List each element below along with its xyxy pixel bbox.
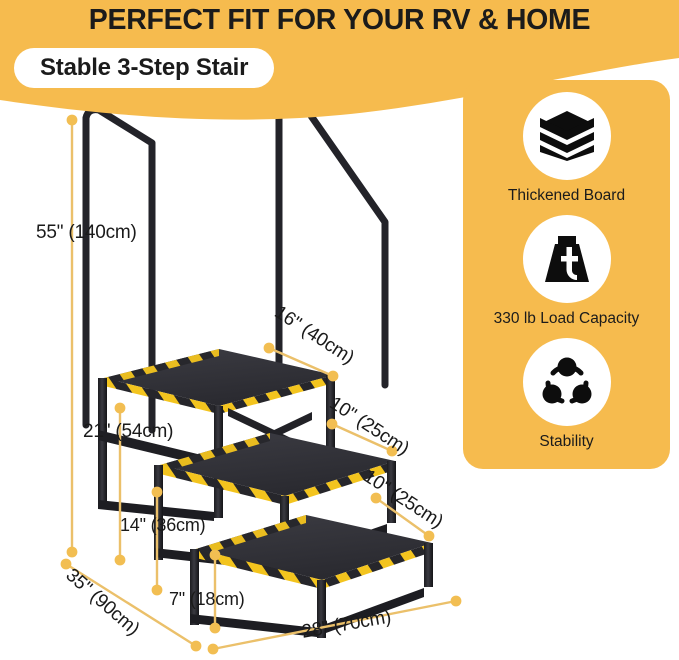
subtitle-pill-label: Stable 3-Step Stair <box>40 54 248 82</box>
feature-label: Thickened Board <box>508 187 625 205</box>
dimension-label-low-step-height: 7" (18cm) <box>169 589 245 610</box>
layers-stack-icon <box>538 109 596 163</box>
dimension-label-handrail-height: 55" (140cm) <box>36 222 137 244</box>
dimension-label-top-step-height: 21" (54cm) <box>83 421 173 443</box>
feature-item-load-capacity: 330 lb Load Capacity <box>463 215 670 328</box>
feature-badge <box>523 338 611 426</box>
subtitle-pill: Stable 3-Step Stair <box>14 48 274 88</box>
stability-triangle-icon <box>539 354 595 410</box>
feature-panel: Thickened Board 330 lb Load Capacity <box>463 80 670 469</box>
dimension-label-mid-step-height: 14" (36cm) <box>120 515 205 536</box>
feature-item-stability: Stability <box>463 338 670 451</box>
feature-badge <box>523 215 611 303</box>
page-title: PERFECT FIT FOR YOUR RV & HOME <box>0 4 679 37</box>
feature-label: 330 lb Load Capacity <box>494 310 640 328</box>
feature-badge <box>523 92 611 180</box>
feature-label: Stability <box>539 433 593 451</box>
feature-item-thickened-board: Thickened Board <box>463 92 670 205</box>
product-infographic: PERFECT FIT FOR YOUR RV & HOME Stable 3-… <box>0 0 679 660</box>
weight-load-icon <box>539 231 595 287</box>
